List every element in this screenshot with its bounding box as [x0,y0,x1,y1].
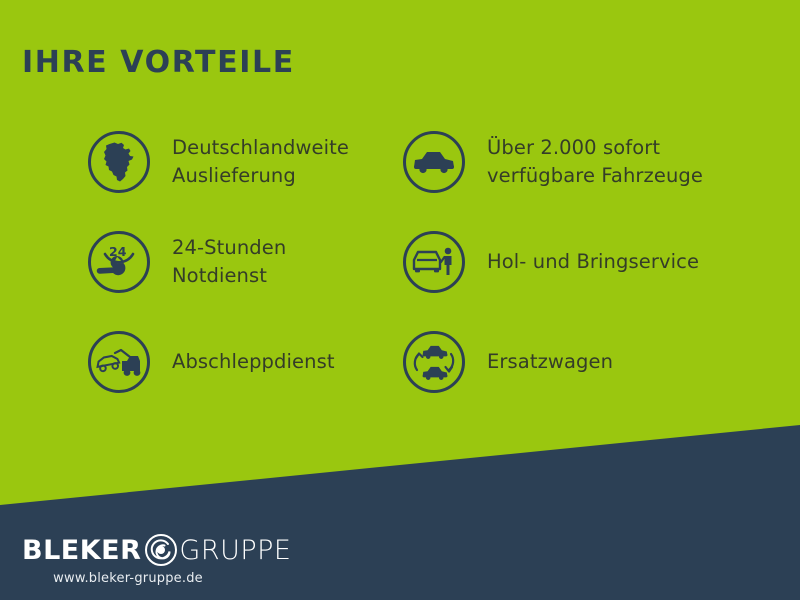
24-hour-wrench-icon: 24 [88,231,150,293]
benefit-label-line-2: Notdienst [172,262,286,290]
slide-root: IHRE VORTEILE Deutschlandweite Ausliefer… [0,0,800,600]
benefit-label: Hol- und Bringservice [487,248,699,276]
germany-map-icon [88,131,150,193]
benefit-label: Deutschlandweite Auslieferung [172,134,349,189]
benefit-label-line-1: Deutschlandweite [172,134,349,162]
two-cars-exchange-icon [403,331,465,393]
website-url[interactable]: www.bleker-gruppe.de [22,571,234,586]
logo: BLEKER GRUPPE [22,532,322,568]
benefit-label: Abschleppdienst [172,348,335,376]
benefit-item-ersatzwagen[interactable]: Ersatzwagen [403,312,793,412]
benefit-label-line-2: verfügbare Fahrzeuge [487,162,703,190]
benefit-label-line-1: Über 2.000 sofort [487,134,703,162]
page-title: IHRE VORTEILE [22,45,295,80]
car-icon [403,131,465,193]
benefit-label-line-1: Hol- und Bringservice [487,248,699,276]
benefit-item-hol-und-bringservice[interactable]: Hol- und Bringservice [403,212,793,312]
benefit-item-24-stunden-notdienst[interactable]: 24 24-Stunden Notdienst [88,212,398,312]
benefit-item-deutschlandweite-auslieferung[interactable]: Deutschlandweite Auslieferung [88,112,398,212]
benefit-label-line-2: Auslieferung [172,162,349,190]
logo-wordmark-gruppe: GRUPPE [179,537,291,564]
logo-wordmark-bleker: BLEKER [22,537,141,564]
car-with-person-icon [403,231,465,293]
benefit-label: 24-Stunden Notdienst [172,234,286,289]
spiral-circle-icon [144,533,178,567]
benefit-label-line-1: 24-Stunden [172,234,286,262]
benefit-label-line-1: Abschleppdienst [172,348,335,376]
benefit-label: Ersatzwagen [487,348,613,376]
benefits-left-column: Deutschlandweite Auslieferung 24 24-Stun… [88,112,398,412]
benefit-label-line-1: Ersatzwagen [487,348,613,376]
benefit-item-abschleppdienst[interactable]: Abschleppdienst [88,312,398,412]
benefit-item-verfuegbare-fahrzeuge[interactable]: Über 2.000 sofort verfügbare Fahrzeuge [403,112,793,212]
footer-branding: BLEKER GRUPPE www.bleker-gruppe.de [22,532,322,586]
tow-truck-icon [88,331,150,393]
benefits-right-column: Über 2.000 sofort verfügbare Fahrzeuge [403,112,793,412]
benefit-label: Über 2.000 sofort verfügbare Fahrzeuge [487,134,703,189]
